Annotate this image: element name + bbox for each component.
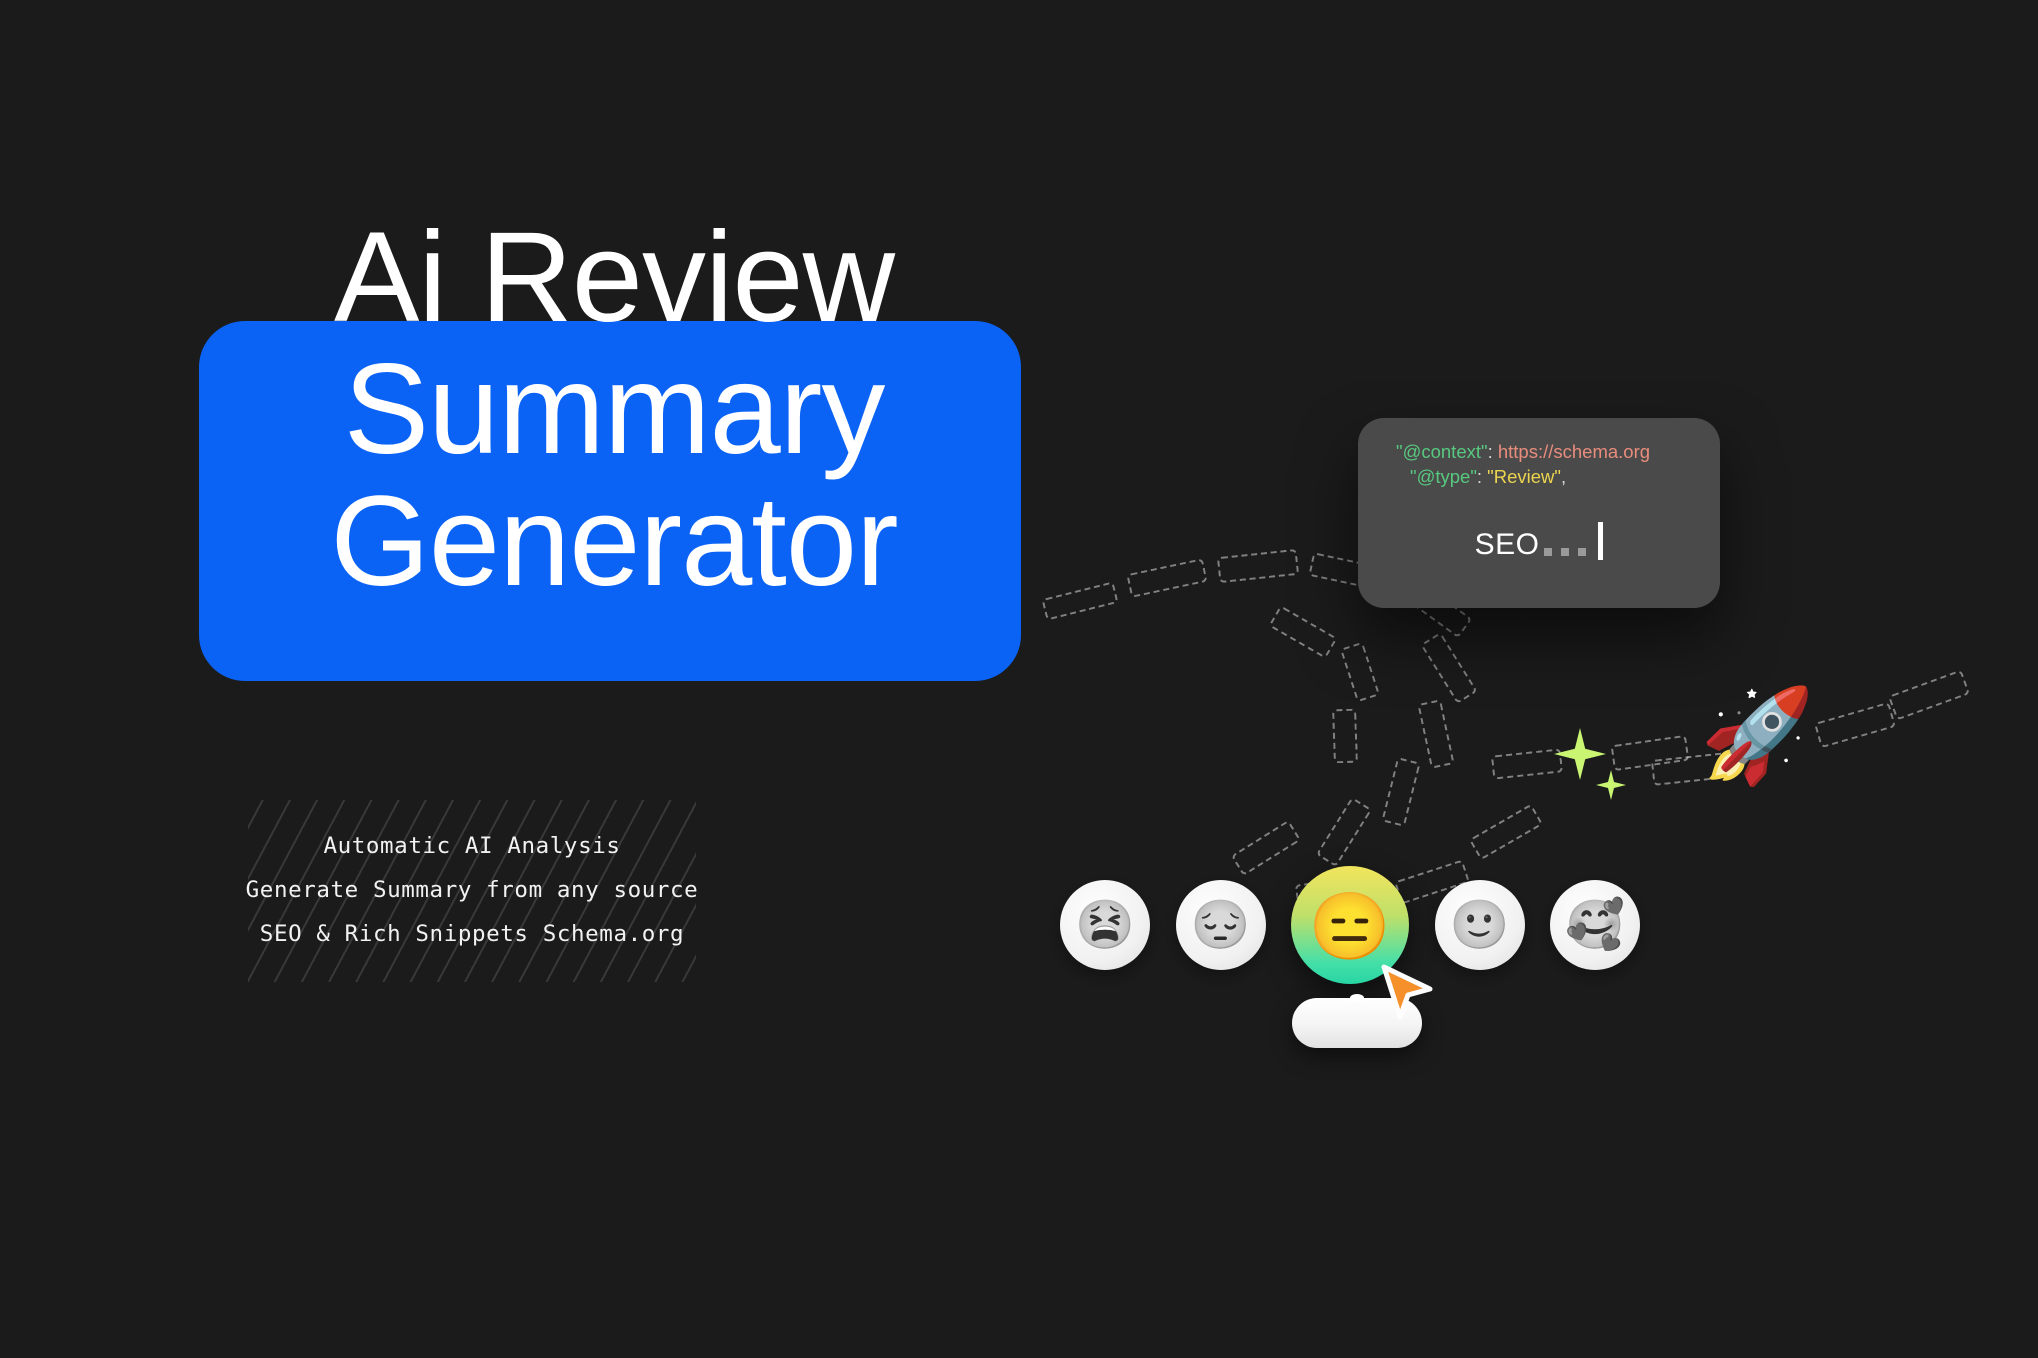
code-key-context: "@context"	[1396, 441, 1488, 462]
typing-dots	[1544, 548, 1586, 560]
dash-segment	[1126, 558, 1207, 598]
reaction-smiling-face-with-hearts[interactable]: 🥰	[1550, 880, 1640, 970]
expressionless-face-emoji: 😑	[1309, 893, 1391, 959]
dash-segment	[1217, 549, 1299, 583]
dash-segment	[1417, 699, 1454, 769]
code-colon: :	[1488, 441, 1498, 462]
reaction-slightly-smiling-face[interactable]: 🙂	[1435, 880, 1525, 970]
title-line-2: Summary	[199, 344, 1029, 476]
code-line-type: "@type": "Review",	[1358, 465, 1720, 490]
typing-dot	[1544, 548, 1552, 556]
sparkle-large-icon	[1554, 728, 1606, 780]
typing-dot	[1561, 548, 1569, 556]
reaction-pensive-face[interactable]: 😔	[1176, 880, 1266, 970]
dash-segment	[1316, 797, 1372, 867]
page-title: Ai Review Summary Generator	[199, 212, 1029, 607]
title-line-1: Ai Review	[199, 212, 1029, 344]
code-comma: ,	[1561, 466, 1566, 487]
dash-segment	[1340, 642, 1380, 703]
code-colon: :	[1477, 466, 1487, 487]
dash-segment	[1814, 702, 1896, 748]
rocket-icon: 🚀	[1700, 690, 1816, 806]
dash-segment	[1469, 804, 1543, 861]
typing-preview: SEO	[1358, 516, 1720, 560]
title-line-3: Generator	[199, 476, 1029, 608]
anguished-face-emoji: 😫	[1075, 902, 1135, 950]
code-value-type: "Review"	[1487, 466, 1561, 487]
dash-segment	[1332, 709, 1358, 764]
schema-code-card: "@context": https://schema.org "@type": …	[1358, 418, 1720, 608]
sentiment-reaction-row[interactable]: 😫 😔 😑 🙂 🥰	[1060, 865, 1640, 985]
feature-item: Generate Summary from any source	[246, 874, 699, 908]
reaction-anguished-face[interactable]: 😫	[1060, 880, 1150, 970]
code-key-type: "@type"	[1410, 466, 1477, 487]
poster-canvas: Ai Review Summary Generator Automatic AI…	[0, 0, 2038, 1358]
dash-segment	[1491, 748, 1563, 779]
dash-segment	[1888, 669, 1970, 720]
text-caret	[1598, 522, 1603, 560]
smiling-face-with-hearts-emoji: 🥰	[1565, 902, 1625, 950]
pill-notch	[1350, 994, 1364, 1002]
dash-segment	[1268, 605, 1337, 659]
dash-segment	[1381, 757, 1420, 827]
feature-list: Automatic AI Analysis Generate Summary f…	[248, 800, 696, 982]
code-value-context: https://schema.org	[1498, 441, 1650, 462]
code-line-context: "@context": https://schema.org	[1358, 440, 1720, 465]
sparkle-small-icon	[1596, 770, 1626, 800]
typing-dot	[1578, 548, 1586, 556]
slightly-smiling-face-emoji: 🙂	[1450, 902, 1510, 950]
pensive-face-emoji: 😔	[1191, 902, 1251, 950]
feature-item: Automatic AI Analysis	[323, 830, 620, 864]
typing-text: SEO	[1475, 530, 1540, 560]
dash-segment	[1041, 581, 1118, 620]
dash-segment	[1420, 632, 1477, 704]
feature-item: SEO & Rich Snippets Schema.org	[260, 918, 684, 952]
sparkles-decoration	[1554, 728, 1624, 808]
